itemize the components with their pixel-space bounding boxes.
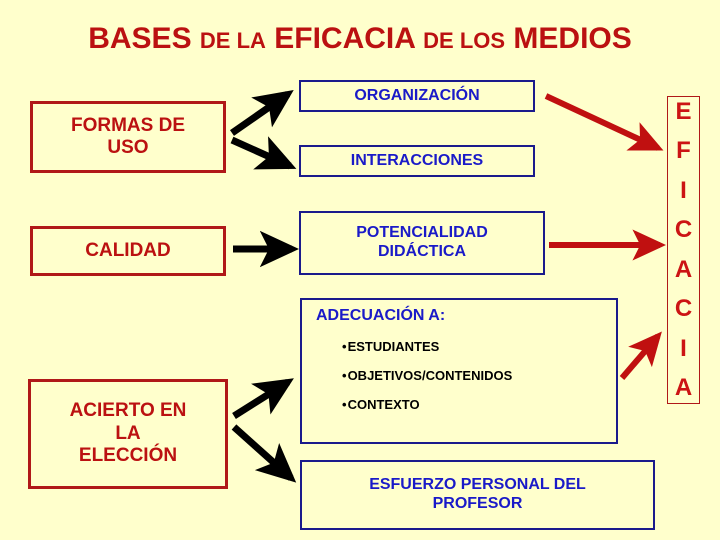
box-calidad-label: CALIDAD	[85, 240, 171, 262]
box-formas-de-uso-line2: USO	[107, 137, 148, 158]
bullet-icon: •	[342, 339, 347, 354]
box-acierto-line1: ACIERTO EN	[70, 400, 187, 421]
bullet-icon: •	[342, 397, 347, 412]
bullet-icon: •	[342, 368, 347, 383]
eficacia-letter: A	[675, 258, 692, 282]
box-adecuacion-a[interactable]: ADECUACIÓN A: •ESTUDIANTES •OBJETIVOS/CO…	[300, 298, 618, 444]
arrow-formas-to-organizacion	[232, 94, 288, 133]
list-item-label: ESTUDIANTES	[348, 339, 440, 354]
arrow-organizacion-to-eficacia	[546, 96, 658, 148]
eficacia-letter: C	[675, 297, 692, 321]
eficacia-letter: C	[675, 218, 692, 242]
list-item: •OBJETIVOS/CONTENIDOS	[302, 368, 616, 383]
eficacia-letter: E	[675, 100, 691, 124]
arrow-adecuacion-to-eficacia	[622, 336, 658, 378]
title-part-de-los: DE LOS	[423, 28, 505, 53]
list-item: •CONTEXTO	[302, 397, 616, 412]
box-esfuerzo-line1: ESFUERZO PERSONAL DEL	[369, 476, 586, 493]
title-part-bases: BASES	[88, 22, 191, 55]
eficacia-letter: I	[680, 179, 687, 203]
box-eficacia-vertical: E F I C A C I A	[667, 96, 700, 404]
box-adecuacion-title: ADECUACIÓN A:	[302, 307, 616, 325]
title-part-medios: MEDIOS	[513, 22, 631, 55]
arrow-formas-to-interacciones	[232, 140, 290, 166]
box-esfuerzo-line2: PROFESOR	[433, 495, 523, 512]
box-esfuerzo-personal-del-profesor[interactable]: ESFUERZO PERSONAL DEL PROFESOR	[300, 460, 655, 530]
box-organizacion-label: ORGANIZACIÓN	[354, 87, 479, 106]
box-calidad[interactable]: CALIDAD	[30, 226, 226, 276]
box-organizacion[interactable]: ORGANIZACIÓN	[299, 80, 535, 112]
eficacia-letter: I	[680, 337, 687, 361]
list-item-label: OBJETIVOS/CONTENIDOS	[348, 368, 513, 383]
box-formas-de-uso-line1: FORMAS DE	[71, 115, 185, 136]
box-potencialidad-line1: POTENCIALIDAD	[356, 224, 488, 241]
arrow-acierto-to-esfuerzo	[234, 427, 291, 478]
arrow-acierto-to-adecuacion	[234, 382, 288, 416]
box-formas-de-uso[interactable]: FORMAS DE USO	[30, 101, 226, 173]
box-potencialidad-line2: DIDÁCTICA	[378, 243, 466, 260]
slide-canvas: BASES DE LA EFICACIA DE LOS MEDIOS	[0, 0, 720, 540]
page-title: BASES DE LA EFICACIA DE LOS MEDIOS	[0, 22, 720, 56]
list-item-label: CONTEXTO	[348, 397, 420, 412]
box-potencialidad-didactica[interactable]: POTENCIALIDAD DIDÁCTICA	[299, 211, 545, 275]
title-part-de-la: DE LA	[200, 28, 266, 53]
eficacia-letter: A	[675, 376, 692, 400]
title-part-eficacia: EFICACIA	[274, 22, 415, 55]
box-acierto-en-la-eleccion[interactable]: ACIERTO EN LA ELECCIÓN	[28, 379, 228, 489]
list-item: •ESTUDIANTES	[302, 339, 616, 354]
eficacia-letter: F	[676, 139, 691, 163]
box-interacciones[interactable]: INTERACCIONES	[299, 145, 535, 177]
box-acierto-line2: LA	[115, 423, 140, 444]
box-interacciones-label: INTERACCIONES	[351, 152, 483, 171]
adecuacion-bullet-list: •ESTUDIANTES •OBJETIVOS/CONTENIDOS •CONT…	[302, 339, 616, 413]
box-acierto-line3: ELECCIÓN	[79, 445, 177, 466]
